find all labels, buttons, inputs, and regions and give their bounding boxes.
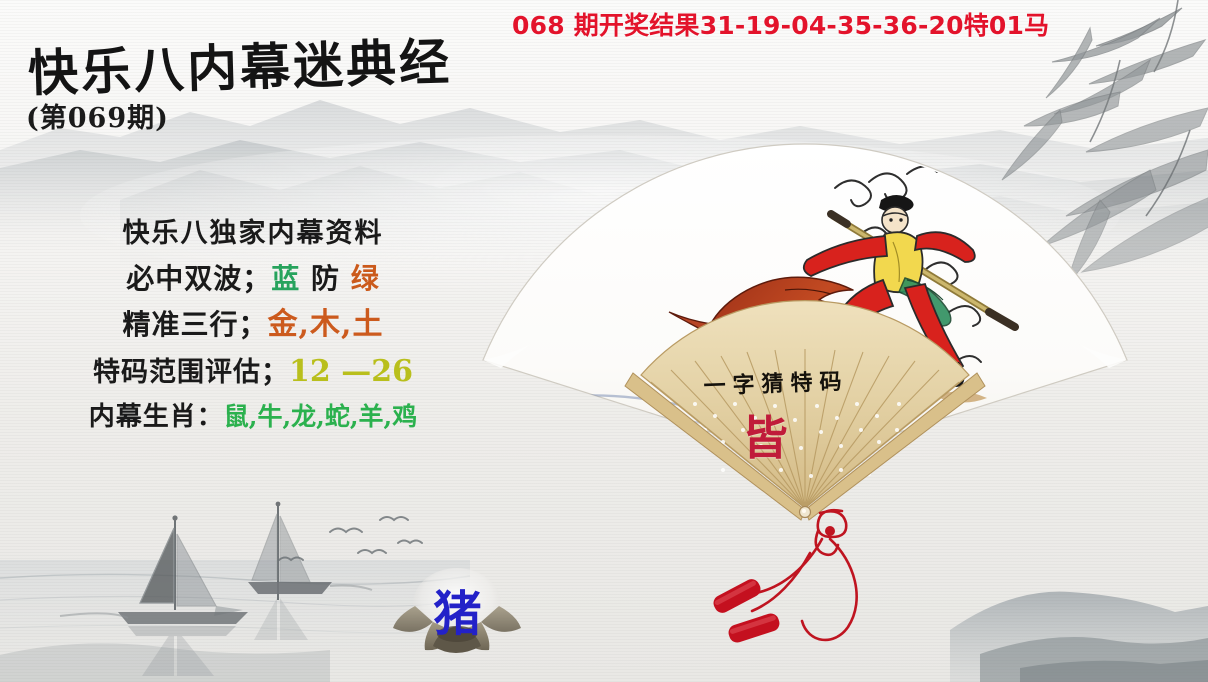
wave-value-secondary: 绿 <box>351 262 380 295</box>
page-title: 快乐八内幕迷典经 <box>27 22 453 106</box>
range-value: 12 —26 <box>289 354 413 389</box>
results-banner: 068 期开奖结果31-19-04-35-36-20特01马 <box>512 6 1049 42</box>
red-tassel <box>690 495 920 655</box>
info-row-wave: 必中双波；蓝 防 绿 <box>58 265 448 293</box>
info-headline: 快乐八独家内幕资料 <box>58 220 448 247</box>
zodiac-label: 内幕生肖： <box>89 402 224 432</box>
poster-canvas: 068 期开奖结果31-19-04-35-36-20特01马 快乐八内幕迷典经 … <box>0 0 1208 682</box>
sailboat-right <box>248 502 372 640</box>
mountain-range-bottom-left <box>0 643 330 682</box>
forecast-info-block: 快乐八独家内幕资料 必中双波；蓝 防 绿 精准三行；金,木,土 特码范围评估；1… <box>58 220 448 430</box>
elements-value: 金,木,土 <box>268 307 384 342</box>
bird-flock <box>279 517 422 560</box>
elements-label: 精准三行； <box>123 308 268 341</box>
sailboat-left <box>60 515 248 676</box>
wave-separator: 防 <box>300 262 351 295</box>
info-row-elements: 精准三行；金,木,土 <box>58 310 448 340</box>
info-row-range: 特码范围评估；12 —26 <box>58 357 448 387</box>
info-row-zodiac: 内幕生肖：鼠,牛,龙,蛇,羊,鸡 <box>58 404 448 430</box>
fan-feature-character: 皆 <box>705 402 825 468</box>
wave-value-primary: 蓝 <box>271 262 300 295</box>
range-label: 特码范围评估； <box>93 357 289 388</box>
issue-number-label: (第069期) <box>26 96 169 135</box>
zodiac-badge-character: 猪 <box>385 574 530 644</box>
wave-label: 必中双波； <box>126 262 271 295</box>
folding-fan-illustration: 一字猜特码 皆 <box>455 130 1155 530</box>
tassel-bar-2 <box>726 611 781 644</box>
zodiac-badge: 猪 <box>385 560 530 670</box>
mountain-range-bottom-right <box>950 592 1208 682</box>
zodiac-value: 鼠,牛,龙,蛇,羊,鸡 <box>224 402 418 431</box>
